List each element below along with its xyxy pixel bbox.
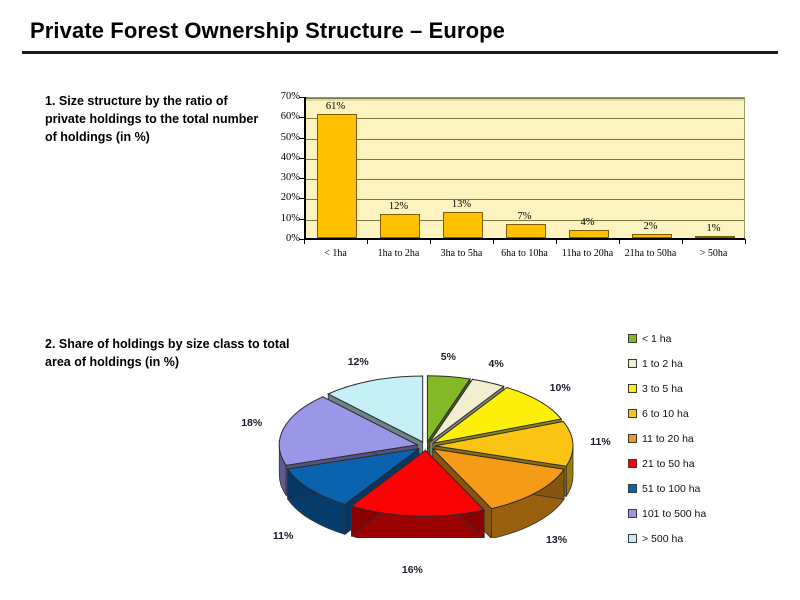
legend-item-label: > 500 ha bbox=[642, 533, 683, 545]
chart2-caption: 2. Share of holdings by size class to to… bbox=[45, 336, 295, 372]
x-axis-tick-mark bbox=[304, 239, 305, 244]
bar-data-label: 1% bbox=[684, 223, 744, 234]
pie-graphic bbox=[266, 368, 636, 538]
gridline bbox=[305, 139, 744, 140]
y-axis-tick-label: 60% bbox=[266, 111, 300, 122]
y-axis-tick-label: 20% bbox=[266, 192, 300, 203]
pie-data-label: 11% bbox=[590, 436, 610, 448]
x-axis-category-label: 3ha to 5ha bbox=[430, 248, 494, 261]
y-axis-tick-label: 30% bbox=[266, 172, 300, 183]
y-axis-tick-label: 0% bbox=[266, 233, 300, 244]
legend-item-label: 51 to 100 ha bbox=[642, 483, 700, 495]
bar-data-label: 2% bbox=[621, 221, 681, 232]
bar-data-label: 4% bbox=[558, 217, 618, 228]
pie-data-label: 13% bbox=[546, 534, 567, 546]
legend-item-label: 21 to 50 ha bbox=[642, 458, 695, 470]
y-axis-tick-mark bbox=[299, 138, 305, 139]
pie-data-label: 10% bbox=[550, 382, 571, 394]
y-axis-tick-label: 10% bbox=[266, 213, 300, 224]
legend-swatch-icon bbox=[628, 384, 637, 393]
x-axis-tick-mark bbox=[493, 239, 494, 244]
legend-item[interactable]: 11 to 20 ha bbox=[628, 426, 793, 451]
x-axis-category-label: < 1ha bbox=[304, 248, 368, 261]
pie-data-label: 4% bbox=[489, 358, 504, 370]
y-axis-tick-mark bbox=[299, 97, 305, 98]
bar bbox=[380, 214, 420, 238]
legend-item[interactable]: 6 to 10 ha bbox=[628, 401, 793, 426]
gridline bbox=[305, 98, 744, 99]
legend-swatch-icon bbox=[628, 484, 637, 493]
bar-data-label: 13% bbox=[432, 199, 492, 210]
bar bbox=[317, 114, 357, 238]
x-axis-category-label: 6ha to 10ha bbox=[493, 248, 557, 261]
legend-item[interactable]: 3 to 5 ha bbox=[628, 376, 793, 401]
legend-item[interactable]: < 1 ha bbox=[628, 326, 793, 351]
x-axis-tick-mark bbox=[430, 239, 431, 244]
pie-data-label: 12% bbox=[348, 356, 369, 368]
legend-swatch-icon bbox=[628, 334, 637, 343]
legend-swatch-icon bbox=[628, 459, 637, 468]
legend-item[interactable]: 101 to 500 ha bbox=[628, 501, 793, 526]
pie-data-label: 16% bbox=[402, 564, 423, 576]
x-axis-category-label: 11ha to 20ha bbox=[556, 248, 620, 261]
y-axis-tick-label: 40% bbox=[266, 152, 300, 163]
x-axis-tick-mark bbox=[367, 239, 368, 244]
x-axis-line bbox=[304, 238, 745, 240]
y-axis-tick-label: 70% bbox=[266, 91, 300, 102]
bar-chart: 0%10%20%30%40%50%60%70% 61%12%13%7%4%2%1… bbox=[266, 88, 752, 278]
legend-item-label: 6 to 10 ha bbox=[642, 408, 689, 420]
legend-item[interactable]: 21 to 50 ha bbox=[628, 451, 793, 476]
y-axis-tick-mark bbox=[299, 117, 305, 118]
y-axis-tick-label: 50% bbox=[266, 132, 300, 143]
legend-item[interactable]: 1 to 2 ha bbox=[628, 351, 793, 376]
x-axis-tick-mark bbox=[682, 239, 683, 244]
legend-swatch-icon bbox=[628, 509, 637, 518]
bar-data-label: 12% bbox=[369, 201, 429, 212]
bar bbox=[569, 230, 609, 238]
title-divider bbox=[22, 51, 778, 54]
x-axis-category-label: 21ha to 50ha bbox=[619, 248, 683, 261]
y-axis-tick-mark bbox=[299, 198, 305, 199]
legend-item-label: < 1 ha bbox=[642, 333, 672, 345]
x-axis-tick-mark bbox=[556, 239, 557, 244]
legend-item[interactable]: 51 to 100 ha bbox=[628, 476, 793, 501]
x-axis-tick-mark bbox=[745, 239, 746, 244]
page-title: Private Forest Ownership Structure – Eur… bbox=[30, 18, 505, 44]
legend-swatch-icon bbox=[628, 359, 637, 368]
pie-chart: 5%4%10%11%13%16%11%18%12% bbox=[266, 368, 636, 538]
legend-item-label: 11 to 20 ha bbox=[642, 433, 694, 445]
gridline bbox=[305, 179, 744, 180]
legend-swatch-icon bbox=[628, 409, 637, 418]
bar bbox=[506, 224, 546, 238]
legend-item[interactable]: > 500 ha bbox=[628, 526, 793, 551]
bar bbox=[443, 212, 483, 238]
pie-data-label: 18% bbox=[241, 417, 262, 429]
bar-data-label: 61% bbox=[306, 101, 366, 112]
pie-data-label: 5% bbox=[441, 351, 456, 363]
gridline bbox=[305, 118, 744, 119]
slide-canvas: Private Forest Ownership Structure – Eur… bbox=[0, 0, 800, 600]
y-axis-tick-mark bbox=[299, 178, 305, 179]
x-axis-tick-mark bbox=[619, 239, 620, 244]
gridline bbox=[305, 159, 744, 160]
y-axis-tick-mark bbox=[299, 219, 305, 220]
legend-item-label: 101 to 500 ha bbox=[642, 508, 706, 520]
pie-data-label: 11% bbox=[273, 530, 293, 542]
chart1-caption: 1. Size structure by the ratio of privat… bbox=[45, 93, 260, 146]
y-axis-tick-mark bbox=[299, 158, 305, 159]
bar-data-label: 7% bbox=[495, 211, 555, 222]
legend-item-label: 1 to 2 ha bbox=[642, 358, 683, 370]
x-axis-category-label: > 50ha bbox=[682, 248, 746, 261]
legend-swatch-icon bbox=[628, 534, 637, 543]
legend-swatch-icon bbox=[628, 434, 637, 443]
legend-item-label: 3 to 5 ha bbox=[642, 383, 683, 395]
x-axis-category-label: 1ha to 2ha bbox=[367, 248, 431, 261]
pie-legend: < 1 ha1 to 2 ha3 to 5 ha6 to 10 ha11 to … bbox=[628, 326, 793, 551]
